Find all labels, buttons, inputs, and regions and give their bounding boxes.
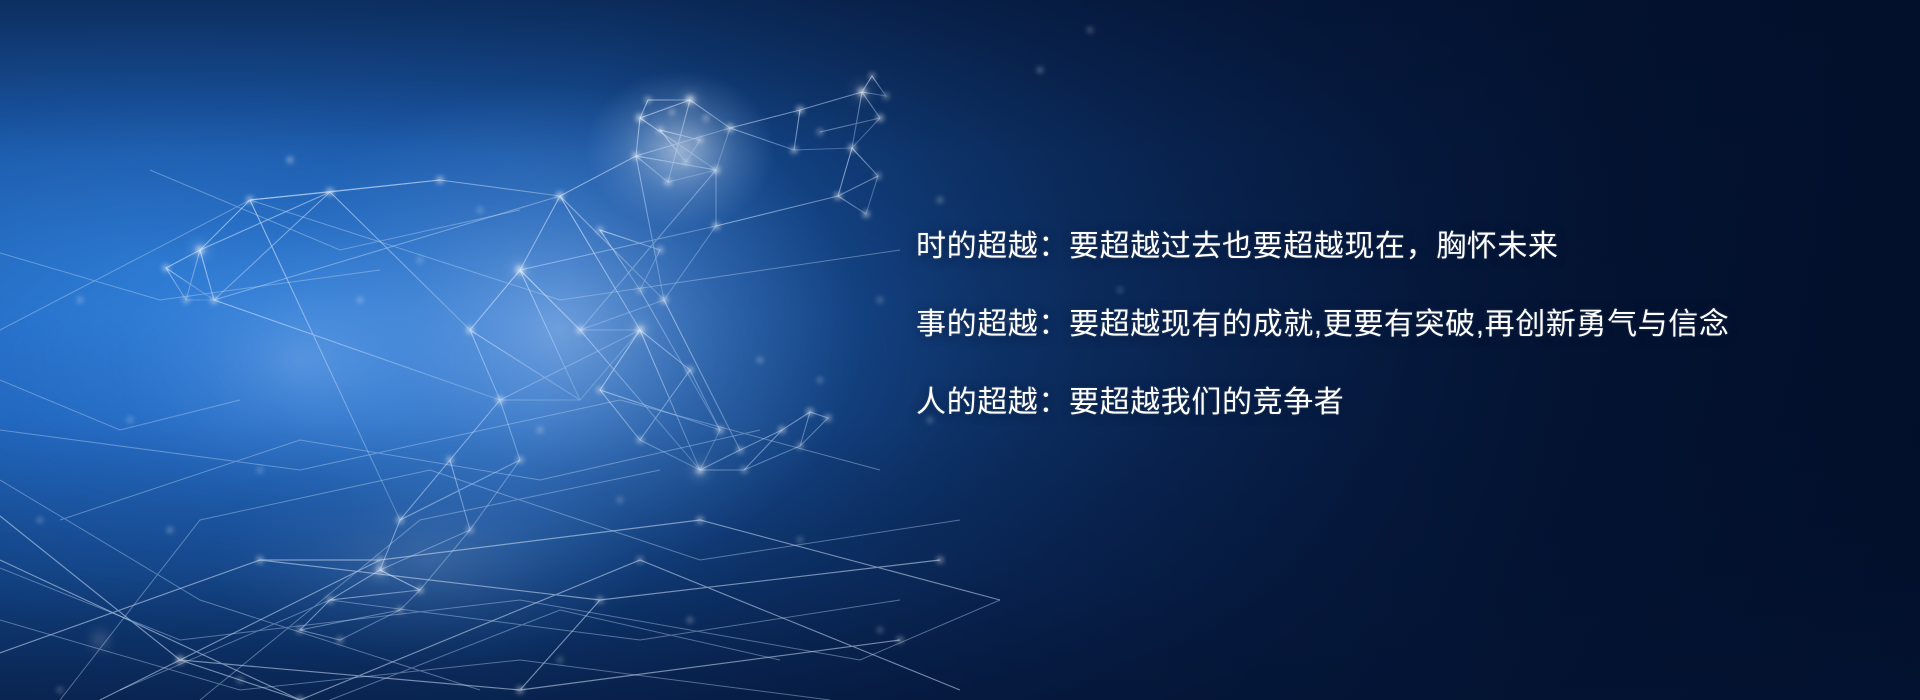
- hero-line-2: 事的超越：要超越现有的成就,更要有突破,再创新勇气与信念: [916, 310, 1836, 340]
- hero-banner: 时的超越：要超越过去也要超越现在，胸怀未来 事的超越：要超越现有的成就,更要有突…: [0, 0, 1920, 700]
- hero-line-3: 人的超越：要超越我们的竞争者: [916, 388, 1836, 418]
- hero-copy-block: 时的超越：要超越过去也要超越现在，胸怀未来 事的超越：要超越现有的成就,更要有突…: [916, 232, 1836, 418]
- figure-halo: [120, 70, 860, 670]
- hero-line-1: 时的超越：要超越过去也要超越现在，胸怀未来: [916, 232, 1836, 262]
